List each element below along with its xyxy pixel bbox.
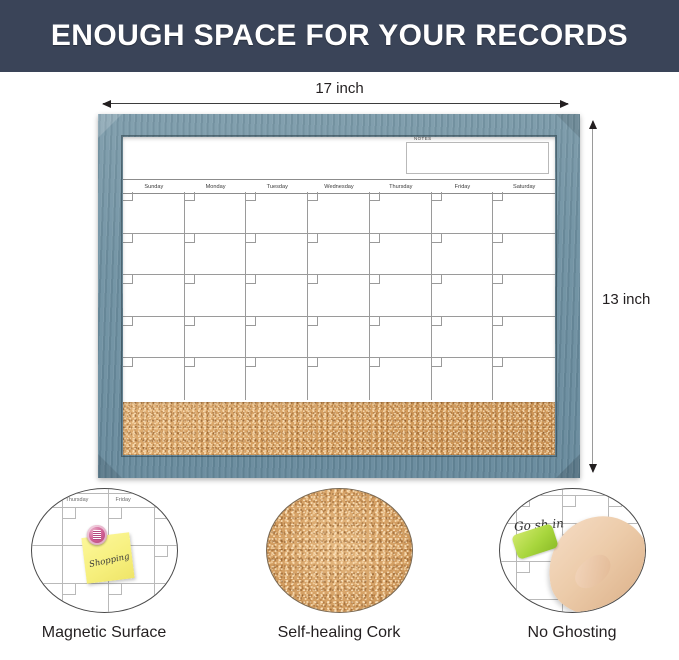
- width-dimension-line: [103, 103, 568, 104]
- calendar-cell: [246, 275, 308, 317]
- date-number-box: [308, 317, 318, 326]
- mini-weekday-friday: Friday: [116, 497, 131, 503]
- calendar-cell: [185, 234, 247, 276]
- date-number-box: [308, 358, 318, 367]
- date-number-box: [246, 234, 256, 243]
- date-number-box: [493, 275, 503, 284]
- thumb: [569, 549, 617, 594]
- calendar-cell: [246, 358, 308, 400]
- magnetic-surface-circle: Thursday Friday Saturday Shopping: [31, 488, 178, 613]
- date-number-box: [493, 317, 503, 326]
- date-number-box: [308, 192, 318, 201]
- height-dimension-line: [592, 121, 593, 472]
- feature-magnetic-surface: Thursday Friday Saturday Shopping Magnet…: [4, 488, 204, 642]
- calendar-cell: [308, 234, 370, 276]
- date-number-box: [246, 317, 256, 326]
- date-number-box: [493, 234, 503, 243]
- calendar-cell: [370, 234, 432, 276]
- date-number-box: [246, 192, 256, 201]
- date-number-box: [123, 275, 133, 284]
- calendar-cell: [123, 234, 185, 276]
- calendar-cell: [493, 358, 555, 400]
- calendar-cell: [246, 317, 308, 359]
- notes-strip: NOTES: [123, 137, 555, 179]
- feature-callouts: Thursday Friday Saturday Shopping Magnet…: [0, 488, 679, 660]
- calendar-surface: NOTES Sunday Monday Tuesday Wednesday Th…: [123, 137, 555, 455]
- mini-weekday-saturday: Saturday: [160, 497, 178, 503]
- magnet-glyph: [93, 530, 101, 540]
- cork-strip: [123, 402, 555, 455]
- calendar-cell: [493, 275, 555, 317]
- date-number-box: [185, 317, 195, 326]
- calendar-cell: [370, 317, 432, 359]
- feature-caption-self-healing-cork: Self-healing Cork: [239, 624, 439, 642]
- date-number-box: [123, 192, 133, 201]
- calendar-cell: [432, 234, 494, 276]
- banner-title: ENOUGH SPACE FOR YOUR RECORDS: [51, 19, 628, 53]
- calendar-cell: [308, 192, 370, 234]
- magnet-icon: [87, 525, 107, 545]
- date-number-box: [370, 234, 380, 243]
- date-number-box: [185, 192, 195, 201]
- date-number-box: [370, 192, 380, 201]
- feature-no-ghosting: Thursday Go sh in No Ghosting: [472, 488, 672, 642]
- date-number-box: [432, 275, 442, 284]
- calendar-grid: [123, 192, 555, 400]
- notes-label: NOTES: [411, 137, 435, 141]
- calendar-cell: [185, 275, 247, 317]
- header-banner: ENOUGH SPACE FOR YOUR RECORDS: [0, 0, 679, 72]
- date-number-box: [185, 275, 195, 284]
- calendar-cell: [432, 317, 494, 359]
- calendar-cell: [493, 317, 555, 359]
- date-number-box: [185, 234, 195, 243]
- calendar-cell: [370, 358, 432, 400]
- date-number-box: [432, 317, 442, 326]
- calendar-cell: [493, 192, 555, 234]
- date-number-box: [432, 358, 442, 367]
- calendar-cell: [308, 317, 370, 359]
- calendar-cell: [308, 358, 370, 400]
- calendar-cell: [185, 192, 247, 234]
- no-ghosting-circle: Thursday Go sh in: [499, 488, 646, 613]
- date-number-box: [246, 275, 256, 284]
- calendar-cell: [370, 192, 432, 234]
- calendar-cell: [432, 275, 494, 317]
- date-number-box: [185, 358, 195, 367]
- cork-swatch-circle: [266, 488, 413, 613]
- date-number-box: [432, 192, 442, 201]
- notes-box: [406, 142, 549, 174]
- height-dimension-label: 13 inch: [602, 291, 650, 308]
- frame-corner-bottom-left: [98, 454, 122, 478]
- date-number-box: [308, 275, 318, 284]
- calendar-cell: [432, 192, 494, 234]
- calendar-cell: [185, 317, 247, 359]
- calendar-cell: [123, 192, 185, 234]
- date-number-box: [432, 234, 442, 243]
- calendar-cell: [185, 358, 247, 400]
- calendar-cell: [493, 234, 555, 276]
- calendar-cell: [308, 275, 370, 317]
- date-number-box: [246, 358, 256, 367]
- frame-corner-top-right: [556, 114, 580, 138]
- date-number-box: [123, 317, 133, 326]
- date-number-box: [370, 358, 380, 367]
- date-number-box: [493, 192, 503, 201]
- calendar-cell: [432, 358, 494, 400]
- frame-corner-bottom-right: [556, 454, 580, 478]
- mini-weekday-thursday: Thursday: [532, 488, 555, 491]
- mini-weekday-thursday: Thursday: [66, 497, 89, 503]
- feature-caption-no-ghosting: No Ghosting: [472, 624, 672, 642]
- date-number-box: [123, 358, 133, 367]
- date-number-box: [308, 234, 318, 243]
- feature-self-healing-cork: Self-healing Cork: [239, 488, 439, 642]
- calendar-cell: [123, 275, 185, 317]
- sticky-note-text: Shopping: [87, 552, 130, 571]
- calendar-cell: [123, 358, 185, 400]
- date-number-box: [370, 317, 380, 326]
- calendar-cell: [123, 317, 185, 359]
- date-number-box: [493, 358, 503, 367]
- calendar-cell: [246, 234, 308, 276]
- feature-caption-magnetic-surface: Magnetic Surface: [4, 624, 204, 642]
- whiteboard-product-image: NOTES Sunday Monday Tuesday Wednesday Th…: [98, 114, 580, 478]
- calendar-cell: [370, 275, 432, 317]
- frame-corner-top-left: [98, 114, 122, 138]
- width-dimension-label: 17 inch: [0, 80, 679, 97]
- date-number-box: [123, 234, 133, 243]
- date-number-box: [370, 275, 380, 284]
- calendar-cell: [246, 192, 308, 234]
